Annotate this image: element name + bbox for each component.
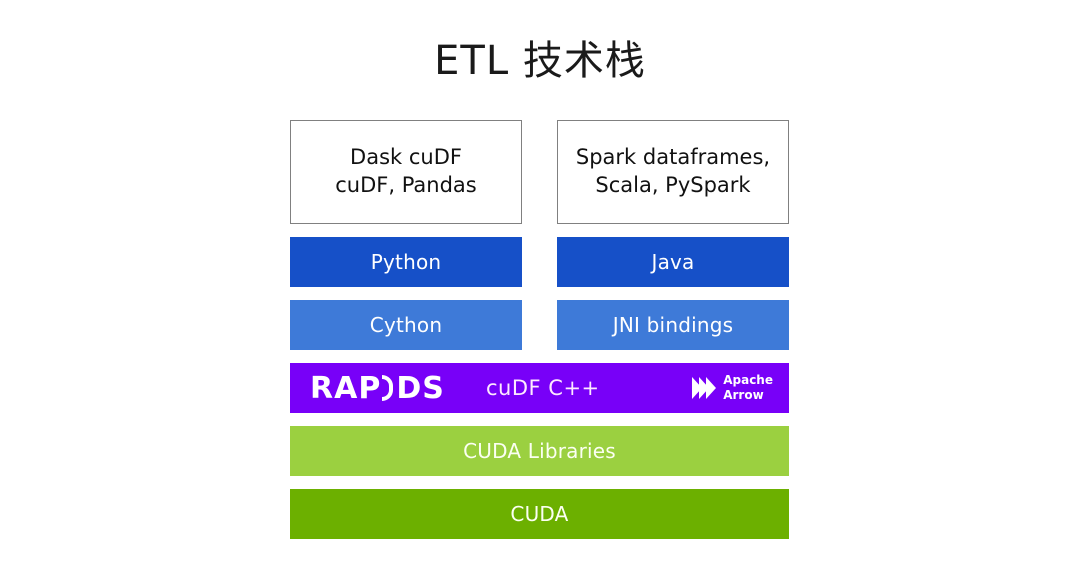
apache-arrow-label: Apache Arrow (723, 373, 773, 403)
binding-bar-cython: Cython (290, 300, 522, 350)
spacer (290, 476, 789, 489)
spacer (290, 413, 789, 426)
page-title: ETL 技术栈 (0, 28, 1080, 86)
spacer (290, 287, 789, 300)
cuda-bar: CUDA (290, 489, 789, 539)
api-box-python-line1: Dask cuDF (350, 145, 462, 169)
binding-bar-jni: JNI bindings (557, 300, 789, 350)
rapids-logo-i-glyph (381, 375, 396, 401)
apache-arrow-line2: Arrow (723, 388, 763, 402)
spacer (290, 350, 789, 363)
api-box-python: Dask cuDF cuDF, Pandas (290, 120, 522, 224)
apache-arrow-logo: Apache Arrow (692, 373, 773, 403)
api-layer-row: Dask cuDF cuDF, Pandas Spark dataframes,… (290, 120, 789, 224)
rapids-logo-text-part1: RAP (310, 374, 381, 404)
language-layer-row: Python Java (290, 237, 789, 287)
triple-chevron-right-icon (692, 377, 716, 399)
api-box-spark-line1: Spark dataframes, (576, 145, 770, 169)
etl-stack-diagram: Dask cuDF cuDF, Pandas Spark dataframes,… (290, 120, 789, 539)
language-bar-java: Java (557, 237, 789, 287)
cudf-cpp-label: cuDF C++ (486, 376, 600, 400)
rapids-logo: RAPDS (310, 372, 445, 404)
api-box-python-line2: cuDF, Pandas (335, 173, 477, 197)
rapids-layer-bar: RAPDS cuDF C++ Apache Arrow (290, 363, 789, 413)
language-bar-python: Python (290, 237, 522, 287)
api-box-spark: Spark dataframes, Scala, PySpark (557, 120, 789, 224)
rapids-logo-text-part2: DS (396, 374, 445, 404)
apache-arrow-line1: Apache (723, 373, 773, 387)
chevron-right-icon (706, 377, 716, 399)
cuda-libraries-bar: CUDA Libraries (290, 426, 789, 476)
spacer (290, 224, 789, 237)
binding-layer-row: Cython JNI bindings (290, 300, 789, 350)
api-box-spark-line2: Scala, PySpark (595, 173, 750, 197)
